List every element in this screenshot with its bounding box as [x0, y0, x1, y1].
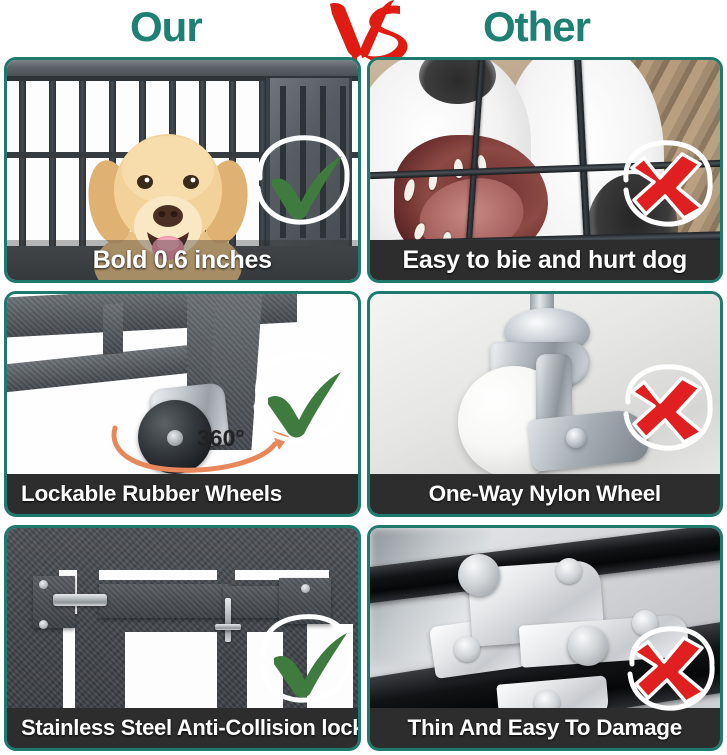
latch-knob [568, 626, 608, 666]
panel-our-bar-thickness: Bold 0.6 inches [4, 57, 361, 283]
latch-body [99, 584, 229, 618]
check-badge [252, 134, 352, 230]
check-badge [254, 612, 354, 708]
caption-our-bar-thickness: Bold 0.6 inches [7, 240, 358, 280]
panel-other-lock: Thin And Easy To Damage [367, 525, 724, 751]
caption-other-bar-thickness: Easy to bie and hurt dog [370, 240, 721, 280]
panel-our-lock: Stainless Steel Anti-Collision lock [4, 525, 361, 751]
cross-badge [624, 624, 718, 716]
comparison-grid: Bold 0.6 inches [4, 57, 723, 751]
panel-other-wheels: One-Way Nylon Wheel [367, 291, 724, 517]
check-badge [248, 350, 350, 448]
header-title-other: Other [483, 2, 590, 52]
latch-knob [458, 554, 500, 596]
cross-badge [620, 138, 716, 234]
panel-other-bar-thickness: Easy to bie and hurt dog [367, 57, 724, 283]
caption-our-wheels: Lockable Rubber Wheels [7, 474, 358, 514]
caption-our-lock: Stainless Steel Anti-Collision lock [7, 708, 358, 748]
cross-badge [620, 362, 716, 458]
caption-other-wheels: One-Way Nylon Wheel [370, 474, 721, 514]
header: Our Other [0, 0, 727, 56]
panel-our-wheels: 360° Lockable Rubber Wheels [4, 291, 361, 517]
slide-bolt [53, 594, 107, 606]
rotation-label: 360° [197, 425, 245, 452]
comparison-infographic: Our Other [0, 0, 727, 755]
header-title-our: Our [130, 2, 202, 52]
